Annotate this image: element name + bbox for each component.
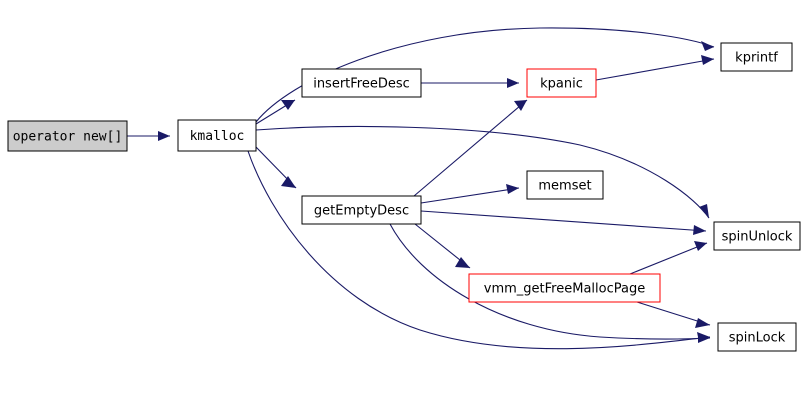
node-label: spinLock — [729, 331, 786, 346]
call-edge — [421, 78, 519, 88]
graph-node-spinlock[interactable]: spinLock — [718, 323, 796, 351]
arrowhead-icon — [694, 241, 707, 251]
graph-node-vmm-getfreemallocpage[interactable]: vmm_getFreeMallocPage — [469, 274, 660, 302]
call-edge — [415, 224, 470, 268]
call-edge — [127, 131, 170, 141]
arrowhead-icon — [701, 55, 714, 65]
call-edge — [414, 100, 527, 196]
node-label: vmm_getFreeMallocPage — [484, 282, 645, 297]
node-label: insertFreeDesc — [313, 77, 410, 92]
call-graph-svg: operator new[]kmallocinsertFreeDesckpani… — [0, 0, 808, 407]
arrowhead-icon — [695, 318, 710, 328]
edge-line — [421, 188, 519, 203]
arrowhead-icon — [699, 204, 709, 218]
graph-node-operator-new-array[interactable]: operator new[] — [8, 121, 127, 151]
call-edge — [421, 211, 706, 235]
edge-line — [596, 59, 714, 80]
arrowhead-icon — [455, 257, 470, 268]
call-edge — [596, 55, 714, 80]
graph-node-getemptydesc[interactable]: getEmptyDesc — [302, 196, 421, 224]
arrowhead-icon — [158, 131, 170, 141]
edge-line — [414, 100, 527, 196]
call-edge — [248, 151, 710, 349]
graph-node-insertfreedesc[interactable]: insertFreeDesc — [302, 69, 421, 97]
edge-line — [248, 151, 710, 349]
arrowhead-icon — [506, 184, 519, 194]
call-edge — [630, 241, 707, 274]
arrowhead-icon — [693, 225, 706, 235]
node-label: kmalloc — [190, 129, 245, 144]
graph-node-kmalloc[interactable]: kmalloc — [178, 120, 256, 151]
arrowhead-icon — [507, 78, 519, 88]
node-layer: operator new[]kmallocinsertFreeDesckpani… — [8, 43, 800, 351]
edge-line — [421, 211, 706, 231]
graph-node-spinunlock[interactable]: spinUnlock — [714, 222, 800, 250]
node-label: kprintf — [735, 51, 778, 66]
node-label: spinUnlock — [722, 230, 793, 245]
call-edge — [256, 147, 296, 188]
call-edge — [421, 184, 519, 203]
node-label: getEmptyDesc — [314, 204, 409, 219]
node-label: operator new[] — [13, 130, 123, 145]
arrowhead-icon — [281, 176, 296, 188]
graph-node-memset[interactable]: memset — [527, 171, 603, 199]
arrowhead-icon — [698, 333, 710, 343]
call-graph-canvas: operator new[]kmallocinsertFreeDesckpani… — [0, 0, 808, 407]
graph-node-kprintf[interactable]: kprintf — [721, 43, 792, 71]
call-edge — [637, 302, 710, 328]
node-label: memset — [538, 179, 591, 194]
node-label: kpanic — [540, 77, 583, 92]
arrowhead-icon — [281, 100, 295, 110]
edge-line — [630, 243, 707, 274]
graph-node-kpanic[interactable]: kpanic — [527, 69, 596, 97]
